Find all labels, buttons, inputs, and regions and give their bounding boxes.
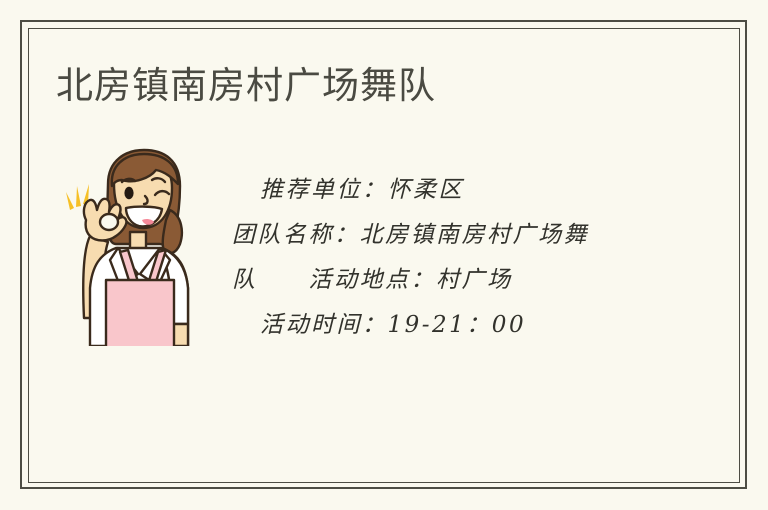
page-root: 北房镇南房村广场舞队	[0, 0, 768, 510]
info-line-activity-place: 队 活动地点：村广场	[232, 258, 662, 303]
info-line-team-name: 团队名称：北房镇南房村广场舞	[232, 213, 662, 258]
smiling-woman-ok-gesture-illustration	[60, 148, 200, 346]
info-line-recommending-unit: 推荐单位：怀柔区	[232, 168, 662, 213]
info-line-activity-time: 活动时间：19-21：00	[232, 303, 662, 348]
team-info-block: 推荐单位：怀柔区 团队名称：北房镇南房村广场舞 队 活动地点：村广场 活动时间：…	[232, 168, 662, 348]
page-title: 北房镇南房村广场舞队	[56, 64, 436, 108]
